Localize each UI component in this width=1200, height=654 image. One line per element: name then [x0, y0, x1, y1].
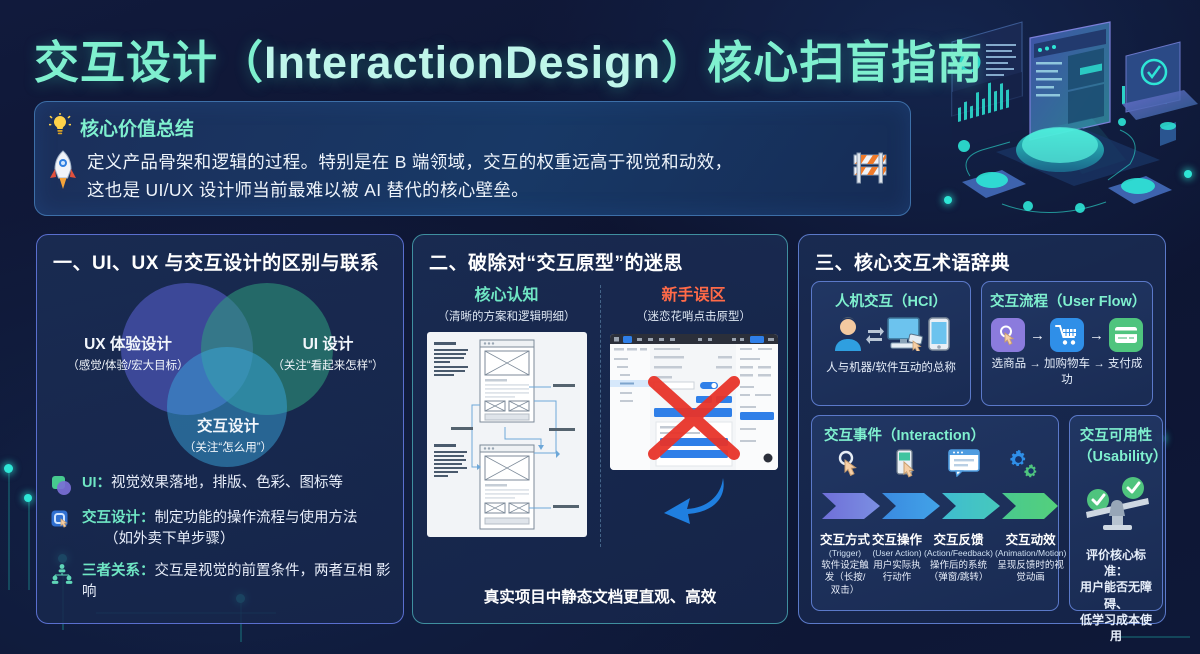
- card-userflow-title: 交互流程（User Flow）: [990, 290, 1144, 311]
- venn-label-ui: UI 设计 （关注“看起来怎样”）: [255, 335, 401, 376]
- summary-heading-row: 核心价值总结: [49, 113, 894, 142]
- tap-hand-icon: [991, 318, 1025, 352]
- venn-ixd-name: 交互设计: [149, 417, 307, 437]
- lightbulb-icon: [49, 113, 71, 142]
- venn-label-ixd: 交互设计 （关注“怎么用”）: [149, 417, 307, 458]
- interaction-col-2: 交互操作 (User Action) 用户实际执行动作: [872, 529, 922, 597]
- bullet-3-text: 交互是视觉的前置条件，两者互相: [155, 563, 373, 579]
- smartphone-icon: [928, 317, 950, 356]
- panel2-right-column: 新手误区 （迷恋花哨点击原型）: [600, 281, 787, 599]
- interaction-col-4-desc: 呈现反馈时的视觉动画: [995, 560, 1066, 585]
- panel2-footer: 真实项目中静态文档更直观、高效: [413, 585, 787, 607]
- interaction-col-2-en: (User Action): [872, 548, 922, 558]
- list-item: 交互设计：制定功能的操作流程与使用方法 （如外卖下单步骤）: [51, 508, 391, 550]
- card-usability-caption-1: 评价核心标准：: [1078, 547, 1154, 579]
- rocket-icon: [49, 149, 77, 198]
- card-usability-title-1: 交互可用性: [1078, 424, 1154, 445]
- desktop-monitor-icon: [887, 317, 925, 356]
- card-userflow-caption: 选商品 → 加购物车 → 支付成功: [990, 357, 1144, 388]
- title-cn-suffix: ）核心扫盲指南: [661, 37, 983, 88]
- shopping-cart-icon: [1050, 318, 1084, 352]
- panel2-comparison: 核心认知 （清晰的方案和逻辑明细）: [413, 281, 787, 599]
- card-hci: 人机交互（HCI）: [811, 281, 971, 406]
- card-usability-title-2: （Usability）: [1078, 445, 1154, 466]
- venn-label-ux: UX 体验设计 （感觉/体验/宏大目标）: [53, 335, 203, 376]
- title-en: InteractionDesign: [264, 37, 661, 88]
- tap-hand-icon: [834, 466, 864, 483]
- summary-line-1: 定义产品骨架和逻辑的过程。特别是在 B 端领域，交互的权重远高于视觉和动效，: [87, 152, 732, 172]
- summary-body-row: 定义产品骨架和逻辑的过程。特别是在 B 端领域，交互的权重远高于视觉和动效， 这…: [49, 149, 894, 204]
- interaction-col-3-en: (Action/Feedback): [924, 548, 993, 558]
- panel3-card-grid: 人机交互（HCI）: [799, 275, 1165, 611]
- interaction-col-2-desc: 用户实际执行动作: [872, 560, 922, 585]
- panel-prototype-myth: 二、破除对“交互原型”的迷思 核心认知 （清晰的方案和逻辑明细）: [412, 234, 788, 624]
- panel1-bullet-list: UI：视觉效果落地，排版、色彩、图标等 交互设计：制定功能的操作流程与使用方法 …: [37, 467, 403, 603]
- interaction-col-3-desc: 操作后的系统（弹窗/跳转）: [924, 560, 993, 585]
- list-item-text: UI：视觉效果落地，排版、色彩、图标等: [82, 473, 343, 494]
- construction-barrier-icon: [850, 149, 890, 185]
- core-value-summary-banner: 核心价值总结 定义产品骨架和逻辑的过程。特别是在 B 端领域，交互的权重远高于视…: [34, 101, 911, 216]
- panel2-right-sub: （迷恋花哨点击原型）: [636, 308, 751, 324]
- interaction-col-1-en: (Trigger): [820, 548, 870, 558]
- interaction-col-2-name: 交互操作: [872, 529, 922, 548]
- card-userflow: 交互流程（User Flow） →: [981, 281, 1153, 406]
- venn-ui-sub: （关注“看起来怎样”）: [272, 360, 383, 372]
- tap-hand-icon: [51, 510, 73, 532]
- interaction-col-1: 交互方式 (Trigger) 软件设定触发（长按/双击）: [820, 529, 870, 597]
- summary-line-2: 这也是 UI/UX 设计师当前最难以被 AI 替代的核心壁垒。: [87, 180, 529, 200]
- message-window-icon: [948, 464, 980, 481]
- blue-curved-arrow-icon: [659, 472, 729, 529]
- panel2-title: 二、破除对“交互原型”的迷思: [413, 235, 787, 275]
- venn-ux-name: UX 体验设计: [53, 335, 203, 355]
- interaction-col-4: 交互动效 (Animation/Motion) 呈现反馈时的视觉动画: [995, 529, 1066, 597]
- panel3-title: 三、核心交互术语辞典: [799, 235, 1165, 275]
- panel3-row-2: 交互事件（Interaction）: [811, 415, 1153, 611]
- venn-ui-name: UI 设计: [255, 335, 401, 355]
- title-cn-prefix: 交互设计（: [34, 37, 264, 88]
- venn-ixd-sub: （关注“怎么用”）: [184, 442, 272, 454]
- panel-ui-ux-differences: 一、UI、UX 与交互设计的区别与联系 UX 体验设计 （感觉/体验/宏大目标）…: [36, 234, 404, 624]
- infographic-canvas: 交互设计（InteractionDesign）核心扫盲指南 核心价值总结: [0, 0, 1200, 654]
- list-item-text: 交互设计：制定功能的操作流程与使用方法 （如外卖下单步骤）: [82, 508, 358, 550]
- bullet-2-text: 制定功能的操作流程与使用方法: [155, 510, 358, 526]
- list-item: 三者关系：交互是视觉的前置条件，两者互相 影响: [51, 561, 391, 603]
- person-icon: [833, 317, 863, 356]
- card-usability: 交互可用性 （Usability）: [1069, 415, 1163, 611]
- venn-diagram: UX 体验设计 （感觉/体验/宏大目标） UI 设计 （关注“看起来怎样”） 交…: [37, 277, 403, 467]
- balance-scale-check-icon: [1078, 519, 1156, 536]
- interaction-col-4-en: (Animation/Motion): [995, 548, 1066, 558]
- userflow-steps: → →: [990, 318, 1144, 352]
- interaction-col-3: 交互反馈 (Action/Feedback) 操作后的系统（弹窗/跳转）: [924, 529, 993, 597]
- wireframe-document-mockup: [427, 332, 587, 537]
- bullet-1-text: 视觉效果落地，排版、色彩、图标等: [111, 475, 343, 491]
- bullet-2-key: 交互设计：: [82, 510, 155, 526]
- card-hci-title: 人机交互（HCI）: [820, 290, 962, 311]
- list-item: UI：视觉效果落地，排版、色彩、图标等: [51, 473, 391, 497]
- interaction-col-4-name: 交互动效: [995, 529, 1066, 548]
- bullet-2-text2: （如外卖下单步骤）: [82, 529, 358, 550]
- flow-arrow-1: →: [1030, 327, 1045, 344]
- bullet-1-key: UI：: [82, 475, 111, 491]
- panel2-divider: [600, 285, 601, 547]
- flow-arrow-2: →: [1089, 327, 1104, 344]
- card-interaction: 交互事件（Interaction）: [811, 415, 1059, 611]
- panel2-left-column: 核心认知 （清晰的方案和逻辑明细）: [413, 281, 600, 599]
- interaction-col-3-name: 交互反馈: [924, 529, 993, 548]
- card-hci-caption: 人与机器/软件互动的总称: [820, 361, 962, 377]
- venn-ux-sub: （感觉/体验/宏大目标）: [67, 360, 188, 372]
- interaction-labels: 交互方式 (Trigger) 软件设定触发（长按/双击） 交互操作 (User …: [820, 529, 1050, 597]
- interaction-col-1-name: 交互方式: [820, 529, 870, 548]
- org-chart-icon: [51, 563, 73, 585]
- panel1-title: 一、UI、UX 与交互设计的区别与联系: [37, 235, 403, 275]
- overlapping-circles-icon: [51, 475, 73, 497]
- card-usability-caption-3: 低学习成本使用: [1078, 612, 1154, 644]
- gears-icon: [1005, 466, 1037, 483]
- panel2-left-heading: 核心认知: [474, 281, 538, 305]
- bullet-3-key: 三者关系：: [82, 563, 155, 579]
- interaction-arrow-chevrons: [820, 485, 1060, 527]
- phone-tap-icon: [891, 466, 921, 483]
- panel3-row-1: 人机交互（HCI）: [811, 281, 1153, 406]
- credit-card-icon: [1109, 318, 1143, 352]
- prototype-tool-screenshot: [610, 334, 778, 470]
- card-interaction-title: 交互事件（Interaction）: [820, 424, 1050, 445]
- summary-text: 定义产品骨架和逻辑的过程。特别是在 B 端领域，交互的权重远高于视觉和动效， 这…: [87, 149, 732, 204]
- panel-terminology-dictionary: 三、核心交互术语辞典 人机交互（HCI）: [798, 234, 1166, 624]
- exchange-arrows-icon: [866, 324, 884, 349]
- panel2-left-sub: （清晰的方案和逻辑明细）: [438, 308, 576, 324]
- list-item-text: 三者关系：交互是视觉的前置条件，两者互相 影响: [82, 561, 391, 603]
- card-usability-caption-2: 用户能否无障碍、: [1078, 579, 1154, 611]
- page-title: 交互设计（InteractionDesign）核心扫盲指南: [34, 26, 983, 91]
- panel2-right-heading: 新手误区: [661, 281, 725, 305]
- summary-heading: 核心价值总结: [80, 114, 194, 141]
- interaction-col-1-desc: 软件设定触发（长按/双击）: [820, 560, 870, 597]
